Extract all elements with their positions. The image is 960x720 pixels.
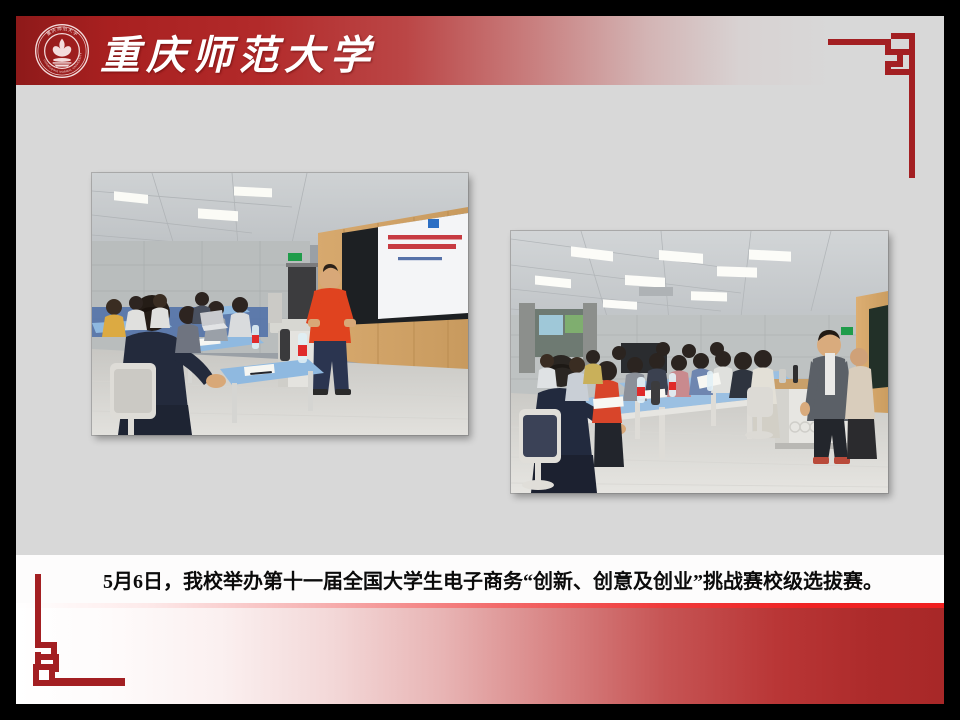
- decorative-corner-ornament-top-right: [828, 30, 932, 178]
- decorative-corner-ornament-bottom-left: [30, 574, 150, 692]
- header-banner: 重庆师范大学 CHONGQING NORMAL UNIVERSITY 重庆师范大…: [16, 16, 944, 85]
- university-seal-icon: 重庆师范大学 CHONGQING NORMAL UNIVERSITY: [34, 23, 90, 79]
- photo-classroom-judging: [511, 231, 888, 493]
- photo-classroom-presentation: [92, 173, 468, 435]
- university-name-title: 重庆师范大学: [100, 24, 376, 80]
- slide-canvas: 重庆师范大学 CHONGQING NORMAL UNIVERSITY 重庆师范大…: [16, 16, 944, 704]
- footer-gradient-band: [16, 608, 944, 704]
- caption-strip: 5月6日，我校举办第十一届全国大学生电子商务“创新、创意及创业”挑战赛校级选拔赛…: [16, 555, 944, 603]
- slide-caption-text: 5月6日，我校举办第十一届全国大学生电子商务“创新、创意及创业”挑战赛校级选拔赛…: [16, 555, 944, 603]
